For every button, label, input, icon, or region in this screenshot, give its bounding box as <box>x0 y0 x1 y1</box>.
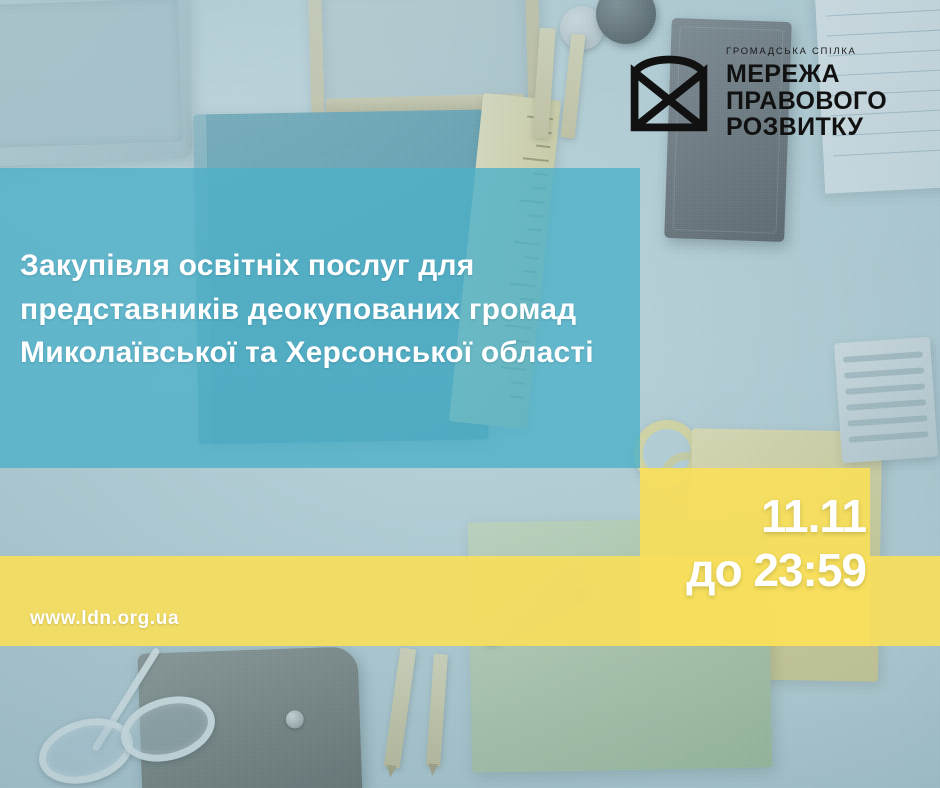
network-mark-icon <box>626 50 712 136</box>
logo-wordmark: ГРОМАДСЬКА СПІЛКА МЕРЕЖА ПРАВОВОГО РОЗВИ… <box>726 46 914 141</box>
organization-logo: ГРОМАДСЬКА СПІЛКА МЕРЕЖА ПРАВОВОГО РОЗВИ… <box>626 34 914 144</box>
deadline-date: 11.11 <box>596 492 866 542</box>
logo-kicker: ГРОМАДСЬКА СПІЛКА <box>726 46 914 57</box>
logo-word-line-1: МЕРЕЖА <box>726 61 914 88</box>
page-title: Закупівля освітніх послуг для представни… <box>20 244 620 375</box>
logo-word-line-3: РОЗВИТКУ <box>726 114 914 141</box>
deadline-block: 11.11 до 23:59 <box>596 492 866 595</box>
website-url[interactable]: www.ldn.org.ua <box>30 608 179 630</box>
deadline-time: до 23:59 <box>596 546 866 596</box>
logo-word-line-2: ПРАВОВОГО <box>726 88 914 115</box>
poster-canvas: Закупівля освітніх послуг для представни… <box>0 0 940 788</box>
